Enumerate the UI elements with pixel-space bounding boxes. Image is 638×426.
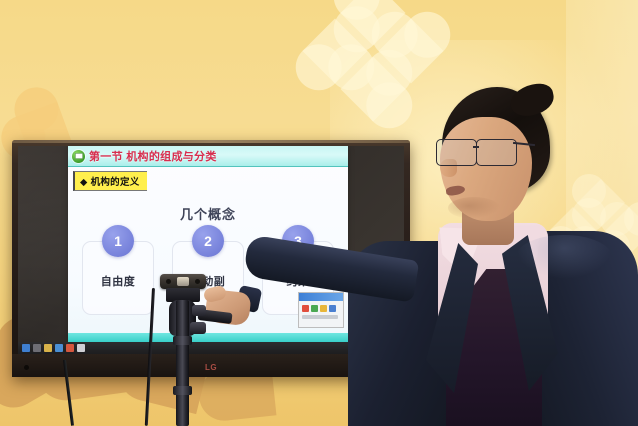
slide-header: 第一节 机构的组成与分类 — [68, 146, 348, 167]
media-icon[interactable] — [33, 344, 41, 352]
chin-shadow — [448, 197, 500, 219]
subheading-label: 机构的定义 — [91, 177, 140, 188]
app-icon[interactable] — [77, 344, 85, 352]
tripod-knob[interactable] — [192, 305, 206, 316]
slide-subheading-text: ◆ 机构的定义 — [75, 172, 147, 190]
concept-card[interactable]: 1 自由度 — [82, 241, 154, 315]
tripod-collar-lower — [173, 386, 192, 395]
inset-swatch — [320, 305, 327, 312]
folder-icon[interactable] — [44, 344, 52, 352]
subheading-bullet-icon: ◆ — [80, 177, 88, 188]
shoulder-highlight — [516, 235, 612, 279]
tripod-lock-knob[interactable] — [190, 322, 206, 334]
browser-icon[interactable] — [66, 344, 74, 352]
eyeglasses-lens-right — [476, 139, 517, 166]
inset-swatch — [311, 305, 318, 312]
concept-number-badge: 1 — [102, 225, 134, 257]
webcam-lens-icon — [177, 277, 189, 286]
inset-swatch — [302, 305, 309, 312]
concept-number-badge: 2 — [192, 225, 224, 257]
webcam-sensor-left-icon — [166, 279, 171, 284]
slide-section-title: 几个概念 — [68, 204, 348, 223]
presenter — [330, 55, 638, 426]
screenshot-scene: 第一节 机构的组成与分类 ◆ 机构的定义 几个概念 1 自由度 2 — [0, 0, 638, 426]
tv-ir-sensor-icon — [24, 365, 29, 370]
eyeglasses-bridge — [473, 146, 479, 148]
tripod-collar-upper — [173, 336, 192, 345]
tv-brand-logo: LG — [205, 363, 217, 372]
explorer-icon[interactable] — [22, 344, 30, 352]
usb-webcam — [160, 274, 206, 289]
slide-header-title: 第一节 机构的组成与分类 — [89, 148, 217, 164]
green-book-emblem-icon — [72, 150, 85, 163]
webcam-sensor-right-icon — [195, 279, 200, 284]
eyeglasses-lens-left — [436, 139, 477, 166]
tripod-pole — [176, 300, 189, 426]
slide-footer-band — [68, 333, 348, 342]
concept-label: 自由度 — [101, 273, 136, 289]
slide-subheading: ◆ 机构的定义 — [73, 171, 147, 191]
window-icon[interactable] — [55, 344, 63, 352]
